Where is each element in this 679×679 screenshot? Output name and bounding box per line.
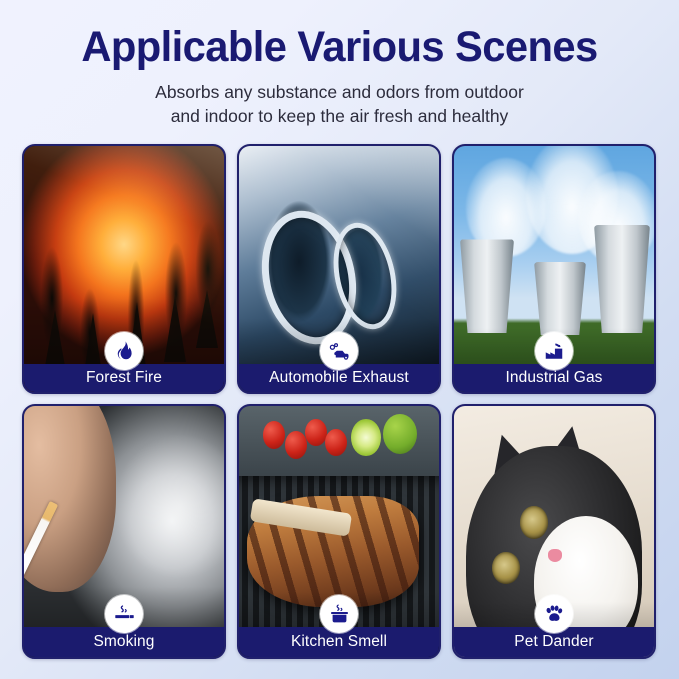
scene-card-industrial-gas[interactable]: Industrial Gas xyxy=(452,144,656,394)
subtitle-line-2: and indoor to keep the air fresh and hea… xyxy=(0,104,679,128)
cooking-pot-icon xyxy=(320,595,358,633)
cigarette-icon xyxy=(105,595,143,633)
scene-card-kitchen-smell[interactable]: Kitchen Smell xyxy=(237,404,441,659)
paw-print-icon xyxy=(535,595,573,633)
scene-label: Automobile Exhaust xyxy=(269,369,409,387)
scene-card-grid: Forest Fire Automobil xyxy=(22,144,657,659)
page-subtitle: Absorbs any substance and odors from out… xyxy=(0,80,679,128)
scene-label: Smoking xyxy=(93,633,154,651)
scene-label: Kitchen Smell xyxy=(291,633,387,651)
page-title: Applicable Various Scenes xyxy=(10,23,669,71)
flame-icon xyxy=(105,332,143,370)
scene-label: Pet Dander xyxy=(514,633,593,651)
scene-label: Forest Fire xyxy=(86,369,162,387)
scene-label: Industrial Gas xyxy=(505,369,602,387)
header: Applicable Various Scenes Absorbs any su… xyxy=(0,0,679,128)
car-exhaust-icon xyxy=(320,332,358,370)
scene-card-pet-dander[interactable]: Pet Dander xyxy=(452,404,656,659)
scenes-infographic: Applicable Various Scenes Absorbs any su… xyxy=(0,0,679,679)
scene-card-automobile-exhaust[interactable]: Automobile Exhaust xyxy=(237,144,441,394)
factory-icon xyxy=(535,332,573,370)
scene-card-smoking[interactable]: Smoking xyxy=(22,404,226,659)
scene-card-forest-fire[interactable]: Forest Fire xyxy=(22,144,226,394)
subtitle-line-1: Absorbs any substance and odors from out… xyxy=(0,80,679,104)
